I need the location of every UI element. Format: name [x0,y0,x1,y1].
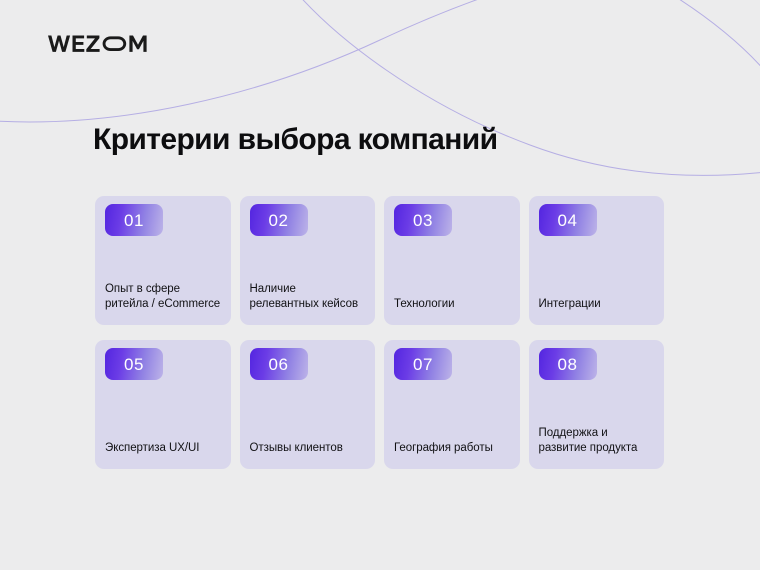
card-number-text: 07 [413,356,433,373]
card-label: Экспертиза UX/UI [105,441,221,456]
card-spacer [250,236,366,282]
card-label: Опыт в сфере ритейла / eCommerce [105,282,221,311]
card-label: География работы [394,441,510,456]
card-number-text: 04 [558,212,578,229]
card-spacer [394,236,510,297]
card-number-badge: 03 [394,204,452,236]
card-number-badge: 01 [105,204,163,236]
criteria-card[interactable]: 02 Наличие релевантных кейсов [240,196,376,325]
card-spacer [250,380,366,441]
card-number-text: 05 [124,356,144,373]
card-number-text: 02 [269,212,289,229]
card-spacer [105,236,221,282]
card-spacer [539,380,655,426]
criteria-cards-grid: 01 Опыт в сфере ритейла / eCommerce 02 Н… [95,196,664,469]
criteria-card[interactable]: 04 Интеграции [529,196,665,325]
card-label: Интеграции [539,297,655,312]
card-spacer [539,236,655,297]
card-number-badge: 02 [250,204,308,236]
card-spacer [394,380,510,441]
card-number-badge: 07 [394,348,452,380]
card-number-badge: 05 [105,348,163,380]
card-number-text: 01 [124,212,144,229]
card-number-badge: 06 [250,348,308,380]
wezom-logo[interactable] [48,31,152,57]
card-label: Наличие релевантных кейсов [250,282,366,311]
page-title: Критерии выбора компаний [93,122,497,158]
card-number-text: 03 [413,212,433,229]
card-label: Отзывы клиентов [250,441,366,456]
card-label: Технологии [394,297,510,312]
card-label: Поддержка и развитие продукта [539,426,655,455]
card-number-text: 08 [558,356,578,373]
criteria-card[interactable]: 07 География работы [384,340,520,469]
decor-curve-upper [0,0,700,122]
criteria-card[interactable]: 01 Опыт в сфере ритейла / eCommerce [95,196,231,325]
criteria-card[interactable]: 08 Поддержка и развитие продукта [529,340,665,469]
criteria-card[interactable]: 06 Отзывы клиентов [240,340,376,469]
card-number-badge: 04 [539,204,597,236]
criteria-card[interactable]: 05 Экспертиза UX/UI [95,340,231,469]
card-spacer [105,380,221,441]
slide-canvas: Критерии выбора компаний 01 Опыт в сфере… [0,0,760,570]
criteria-card[interactable]: 03 Технологии [384,196,520,325]
wezom-wordmark-icon [48,33,152,55]
decor-curve-right [648,0,760,72]
card-number-text: 06 [269,356,289,373]
card-number-badge: 08 [539,348,597,380]
